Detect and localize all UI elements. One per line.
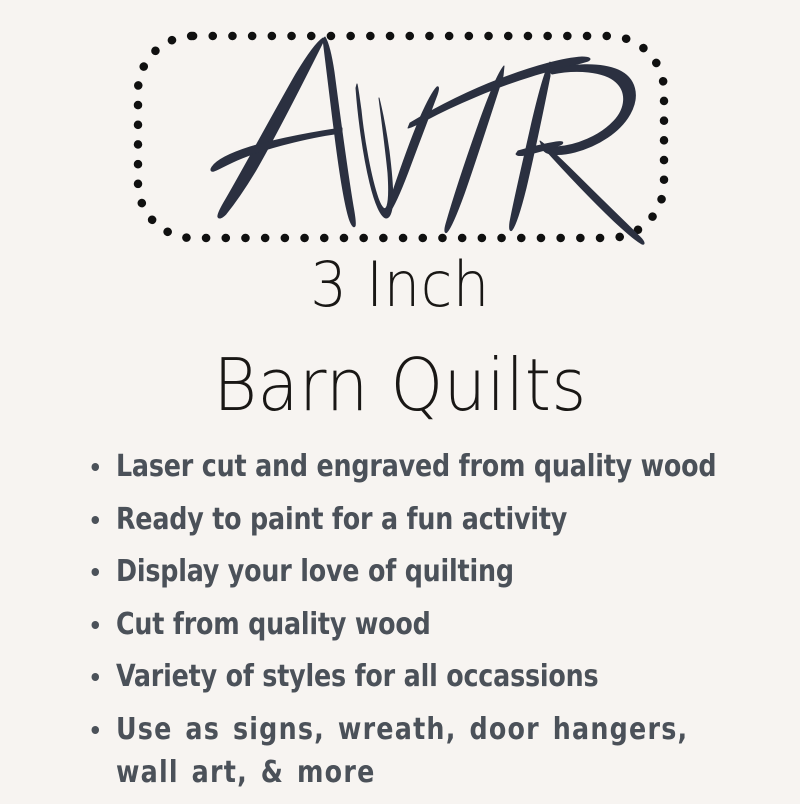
list-item: Display your love of quilting (84, 551, 742, 594)
list-item: Cut from quality wood (84, 604, 742, 647)
list-item-label: Laser cut and engraved from quality wood (116, 449, 716, 484)
list-item-label: Use as signs, wreath, door hangers, wall… (116, 712, 688, 790)
page-title-line-2: Barn Quilts (28, 347, 772, 425)
list-item: Laser cut and engraved from quality wood (84, 446, 742, 489)
bullet-dot-icon (92, 673, 100, 681)
dotted-frame-icon (120, 18, 682, 256)
bullet-dot-icon (92, 621, 100, 629)
feature-list: Laser cut and engraved from quality wood… (84, 446, 784, 804)
product-graphic: 3 Inch Barn Quilts Laser cut and engrave… (0, 0, 800, 800)
list-item: Use as signs, wreath, door hangers, wall… (84, 709, 742, 794)
bullet-dot-icon (92, 568, 100, 576)
list-item-label: Variety of styles for all occassions (116, 659, 598, 694)
list-item: Variety of styles for all occassions (84, 656, 742, 699)
list-item-label: Cut from quality wood (116, 607, 431, 642)
list-item-label: Display your love of quilting (116, 554, 514, 589)
list-item-label: Ready to paint for a fun activity (116, 502, 567, 537)
bullet-dot-icon (92, 726, 100, 734)
title-block: 3 Inch Barn Quilts (0, 252, 800, 425)
bullet-dot-icon (92, 516, 100, 524)
list-item: Ready to paint for a fun activity (84, 499, 742, 542)
page-title-line-1: 3 Inch (28, 252, 772, 319)
brand-logo (120, 18, 682, 256)
bullet-dot-icon (92, 463, 100, 471)
